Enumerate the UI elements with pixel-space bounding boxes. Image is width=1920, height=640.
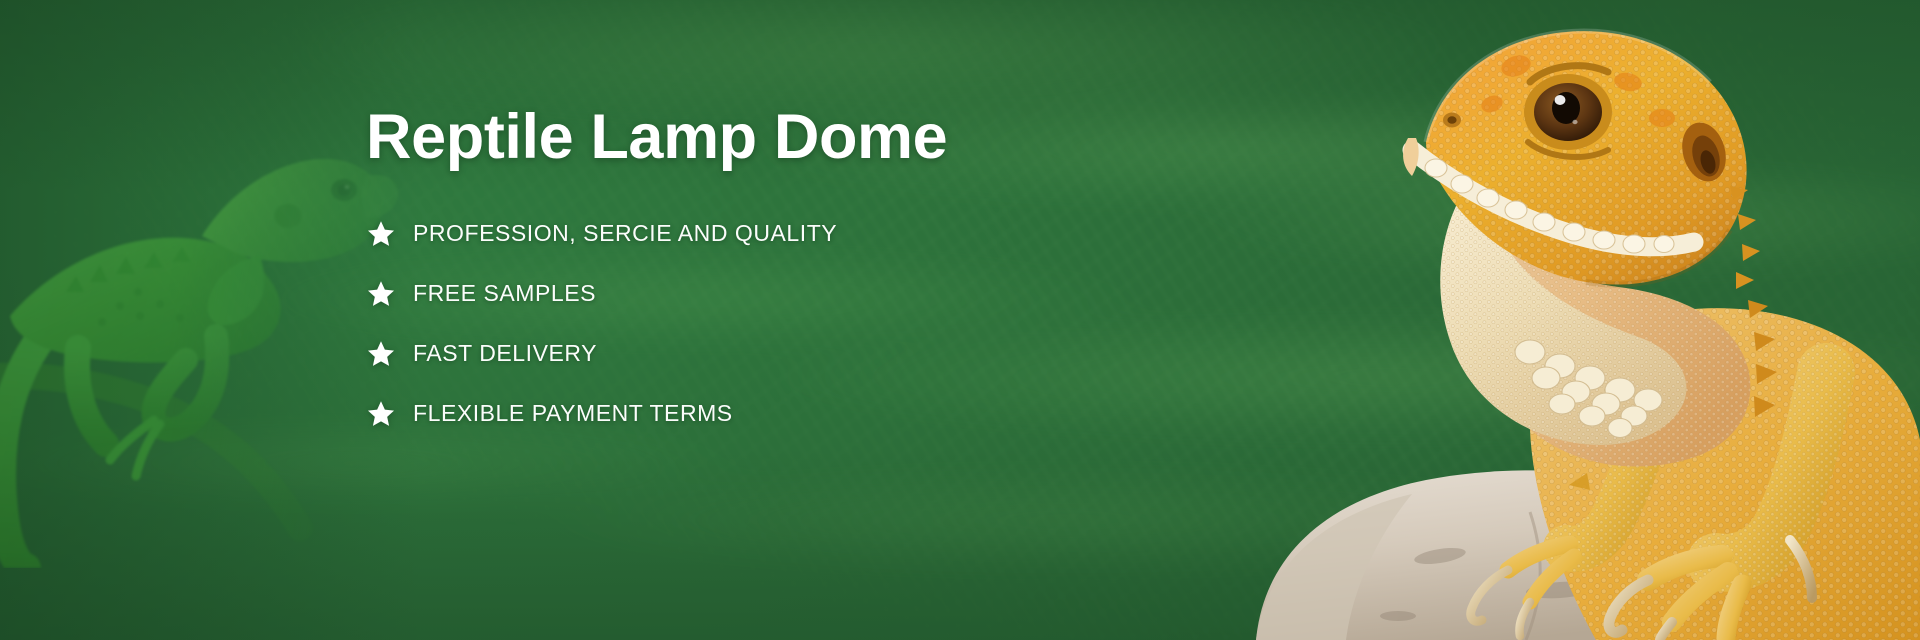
list-item-label: FLEXIBLE PAYMENT TERMS: [413, 400, 733, 427]
green-iguana-image: [0, 48, 400, 568]
star-icon: [366, 279, 396, 309]
bearded-dragon-image: [1230, 0, 1920, 640]
list-item-label: PROFESSION, SERCIE AND QUALITY: [413, 220, 837, 247]
list-item: FAST DELIVERY: [366, 324, 1126, 384]
star-icon: [366, 399, 396, 429]
banner-content: Reptile Lamp Dome PROFESSION, SERCIE AND…: [366, 104, 1126, 444]
list-item-label: FAST DELIVERY: [413, 340, 597, 367]
list-item: PROFESSION, SERCIE AND QUALITY: [366, 204, 1126, 264]
list-item-label: FREE SAMPLES: [413, 280, 596, 307]
list-item: FREE SAMPLES: [366, 264, 1126, 324]
promo-banner: Reptile Lamp Dome PROFESSION, SERCIE AND…: [0, 0, 1920, 640]
star-icon: [366, 339, 396, 369]
page-title: Reptile Lamp Dome: [366, 104, 1126, 171]
feature-list: PROFESSION, SERCIE AND QUALITY FREE SAMP…: [366, 204, 1126, 444]
list-item: FLEXIBLE PAYMENT TERMS: [366, 384, 1126, 444]
star-icon: [366, 219, 396, 249]
